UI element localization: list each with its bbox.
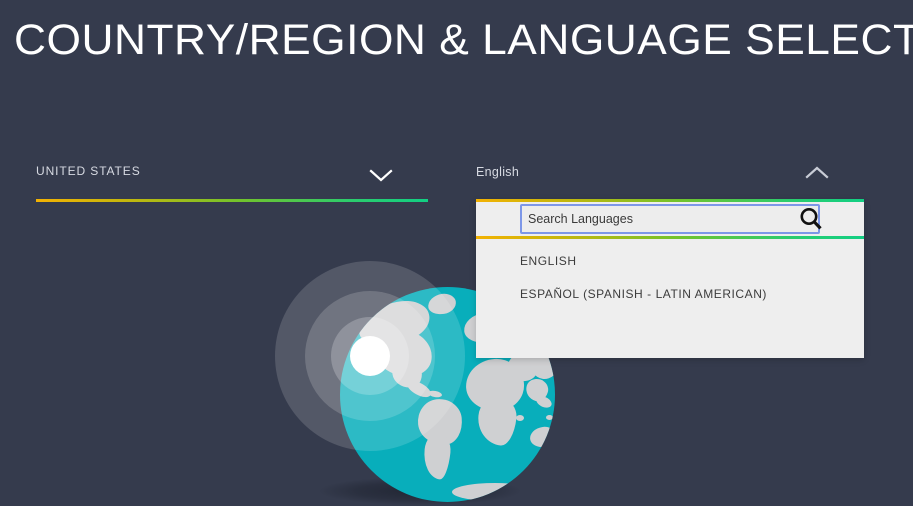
landmass-island-east — [546, 415, 553, 420]
page-title: COUNTRY/REGION & LANGUAGE SELECTOR — [14, 12, 913, 68]
language-selector[interactable]: English — [476, 157, 864, 203]
search-icon[interactable] — [798, 206, 824, 232]
panel-top-gradient-line — [476, 199, 864, 202]
landmass-new-zealand — [551, 451, 555, 462]
country-region-selected-value: UNITED STATES — [36, 164, 141, 178]
ripple-center-dot — [350, 336, 390, 376]
language-options-list: ENGLISH ESPAÑOL (SPANISH - LATIN AMERICA… — [476, 245, 864, 311]
language-dropdown-panel: ENGLISH ESPAÑOL (SPANISH - LATIN AMERICA… — [476, 199, 864, 358]
chevron-up-icon[interactable] — [804, 165, 830, 181]
panel-mid-gradient-line — [476, 236, 864, 239]
country-region-selector[interactable]: UNITED STATES — [36, 157, 428, 203]
list-item[interactable]: ENGLISH — [476, 245, 864, 278]
list-item[interactable]: ESPAÑOL (SPANISH - LATIN AMERICAN) — [476, 278, 864, 311]
landmass-southeast-asia — [535, 394, 554, 410]
language-search-row[interactable] — [520, 204, 820, 234]
language-selected-value: English — [476, 165, 519, 179]
landmass-antarctica — [452, 483, 538, 501]
landmass-australia — [529, 425, 555, 448]
chevron-down-icon[interactable] — [368, 167, 394, 183]
search-input[interactable] — [528, 209, 778, 229]
landmass-island-west — [516, 415, 524, 421]
country-underline-gradient — [36, 199, 428, 202]
country-language-selector-page: COUNTRY/REGION & LANGUAGE SELECTOR — [0, 0, 913, 506]
landmass-island-north — [540, 387, 546, 392]
